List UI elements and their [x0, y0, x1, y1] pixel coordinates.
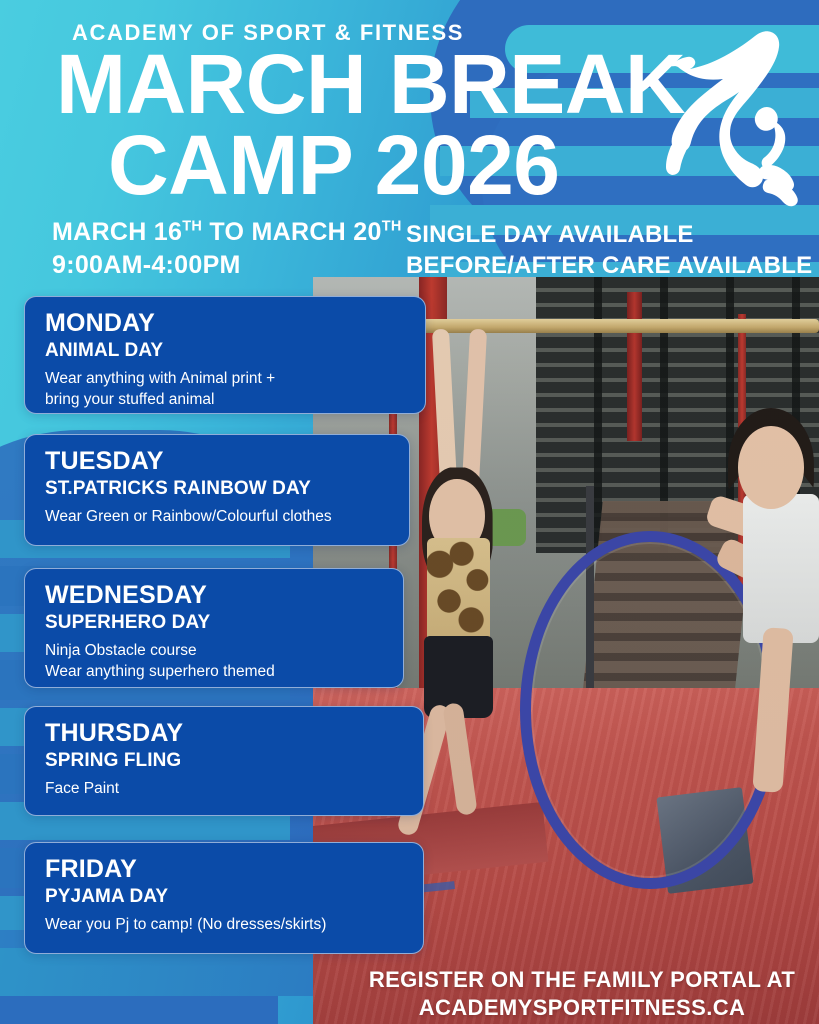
card-description: Wear you Pj to camp! (No dresses/skirts)	[45, 914, 405, 935]
card-day-label: MONDAY	[45, 309, 407, 337]
footer-band-middle	[0, 948, 313, 996]
card-theme-label: SPRING FLING	[45, 749, 405, 773]
schedule-card-monday[interactable]: MONDAY ANIMAL DAY Wear anything with Ani…	[24, 296, 426, 414]
camp-options: SINGLE DAY AVAILABLE BEFORE/AFTER CARE A…	[406, 220, 812, 281]
card-description: Wear anything with Animal print + bring …	[45, 368, 407, 411]
camp-dates: MARCH 16TH TO MARCH 20TH 9:00AM-4:00PM	[52, 216, 402, 282]
card-description: Face Paint	[45, 778, 405, 799]
date-start: MARCH 16	[52, 218, 182, 246]
page-title: MARCH BREAK CAMP 2026	[56, 44, 756, 205]
card-description: Wear Green or Rainbow/Colourful clothes	[45, 506, 391, 527]
single-day-note: SINGLE DAY AVAILABLE	[406, 220, 812, 251]
date-connector: TO MARCH 20	[202, 218, 382, 246]
schedule-card-tuesday[interactable]: TUESDAY ST.PATRICKS RAINBOW DAY Wear Gre…	[24, 434, 410, 546]
registration-footer: REGISTER ON THE FAMILY PORTAL AT ACADEMY…	[352, 966, 812, 1022]
card-theme-label: ANIMAL DAY	[45, 339, 407, 363]
card-theme-label: PYJAMA DAY	[45, 885, 405, 909]
card-day-label: WEDNESDAY	[45, 581, 385, 609]
card-day-label: THURSDAY	[45, 719, 405, 747]
card-description: Ninja Obstacle course Wear anything supe…	[45, 640, 385, 683]
date-start-suffix: TH	[182, 219, 202, 235]
title-line-2: CAMP 2026	[56, 125, 756, 206]
schedule-card-wednesday[interactable]: WEDNESDAY SUPERHERO DAY Ninja Obstacle c…	[24, 568, 404, 688]
website-url[interactable]: ACADEMYSPORTFITNESS.CA	[352, 994, 812, 1022]
card-theme-label: SUPERHERO DAY	[45, 611, 385, 635]
schedule-card-friday[interactable]: FRIDAY PYJAMA DAY Wear you Pj to camp! (…	[24, 842, 424, 954]
before-after-care-note: BEFORE/AFTER CARE AVAILABLE	[406, 251, 812, 282]
footer-band-bottom	[0, 996, 278, 1024]
schedule-card-thursday[interactable]: THURSDAY SPRING FLING Face Paint	[24, 706, 424, 816]
camp-date-range: MARCH 16TH TO MARCH 20TH	[52, 216, 402, 249]
card-day-label: TUESDAY	[45, 447, 391, 475]
card-theme-label: ST.PATRICKS RAINBOW DAY	[45, 477, 391, 501]
register-prompt: REGISTER ON THE FAMILY PORTAL AT	[352, 966, 812, 994]
title-line-1: MARCH BREAK	[56, 44, 756, 125]
date-end-suffix: TH	[382, 219, 402, 235]
march-break-camp-poster: ACADEMY OF SPORT & FITNESS MARCH BREAK C…	[0, 0, 819, 1024]
card-day-label: FRIDAY	[45, 855, 405, 883]
camp-hours: 9:00AM-4:00PM	[52, 249, 402, 282]
